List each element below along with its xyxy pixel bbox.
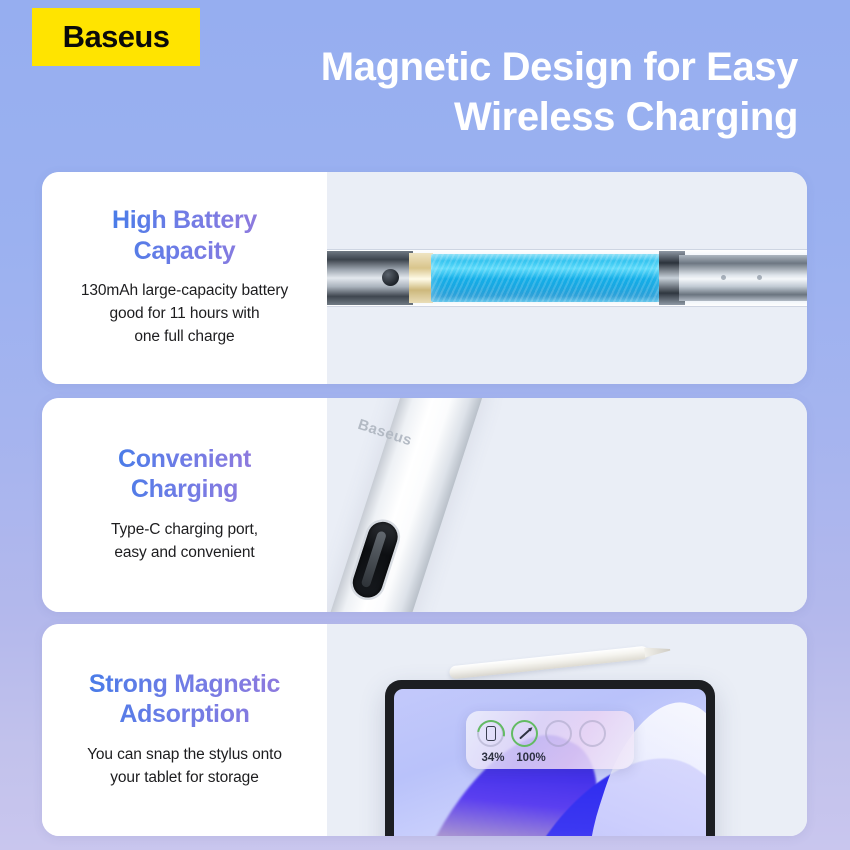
card-desc-line-2: good for 11 hours with <box>109 305 259 322</box>
tablet-battery-percent: 34% <box>478 752 508 764</box>
battery-percent-labels: 34% 100% <box>477 752 623 764</box>
card-text-panel: High Battery Capacity 130mAh large-capac… <box>42 172 327 384</box>
headline-line-2: Wireless Charging <box>258 92 798 142</box>
card-desc-line-2: easy and convenient <box>114 544 254 561</box>
baseus-logo: Baseus <box>32 8 200 66</box>
battery-ring-empty-1 <box>545 720 572 747</box>
card-desc-line-1: You can snap the stylus onto <box>87 746 282 763</box>
tablet-device: 34% 100% <box>385 680 715 836</box>
feature-card-battery: High Battery Capacity 130mAh large-capac… <box>42 172 807 384</box>
feature-card-magnetic: Strong Magnetic Adsorption You can snap … <box>42 624 807 836</box>
stylus-metal-tip-end <box>327 251 413 305</box>
card-desc-line-2: your tablet for storage <box>110 769 258 786</box>
product-feature-page: Baseus Magnetic Design for Easy Wireless… <box>0 0 850 850</box>
battery-status-widget[interactable]: 34% 100% <box>466 711 634 769</box>
card-description: Type-C charging port, easy and convenien… <box>111 519 258 565</box>
card-desc-line-3: one full charge <box>134 328 234 345</box>
page-headline: Magnetic Design for Easy Wireless Chargi… <box>258 42 798 142</box>
stylus-battery-cell <box>431 254 663 302</box>
card-description: 130mAh large-capacity battery good for 1… <box>81 280 288 349</box>
stylus-battery-percent: 100% <box>516 752 546 764</box>
card-title-line-1: High Battery <box>112 206 257 234</box>
card-media-panel: Baseus <box>327 398 807 612</box>
card-title: Convenient Charging <box>118 444 251 505</box>
battery-ring-group <box>477 720 623 747</box>
tablet-screen: 34% 100% <box>394 689 706 836</box>
stylus-metal-rear-end <box>679 255 807 301</box>
card-desc-line-1: Type-C charging port, <box>111 521 258 538</box>
stylus-attached-magnetically <box>449 646 649 680</box>
card-desc-line-1: 130mAh large-capacity battery <box>81 282 288 299</box>
card-description: You can snap the stylus onto your tablet… <box>87 744 282 790</box>
battery-ring-stylus <box>511 720 538 747</box>
card-title-line-1: Strong Magnetic <box>89 670 280 698</box>
card-title-line-2: Adsorption <box>119 700 249 728</box>
card-title: High Battery Capacity <box>112 205 257 266</box>
battery-ring-empty-2 <box>579 720 606 747</box>
card-media-panel <box>327 172 807 384</box>
stylus-icon <box>519 728 531 739</box>
card-title: Strong Magnetic Adsorption <box>89 669 280 730</box>
logo-text: Baseus <box>63 19 170 55</box>
feature-card-charging: Convenient Charging Type-C charging port… <box>42 398 807 612</box>
card-title-line-2: Capacity <box>134 237 236 265</box>
tablet-icon <box>486 726 496 741</box>
card-text-panel: Convenient Charging Type-C charging port… <box>42 398 327 612</box>
card-text-panel: Strong Magnetic Adsorption You can snap … <box>42 624 327 836</box>
card-title-line-1: Convenient <box>118 445 251 473</box>
headline-line-1: Magnetic Design for Easy <box>258 42 798 92</box>
battery-ring-tablet <box>477 720 504 747</box>
card-media-panel: 34% 100% <box>327 624 807 836</box>
stylus-gold-contact <box>409 253 433 303</box>
stylus-cutaway-image <box>327 243 807 313</box>
card-title-line-2: Charging <box>131 475 238 503</box>
